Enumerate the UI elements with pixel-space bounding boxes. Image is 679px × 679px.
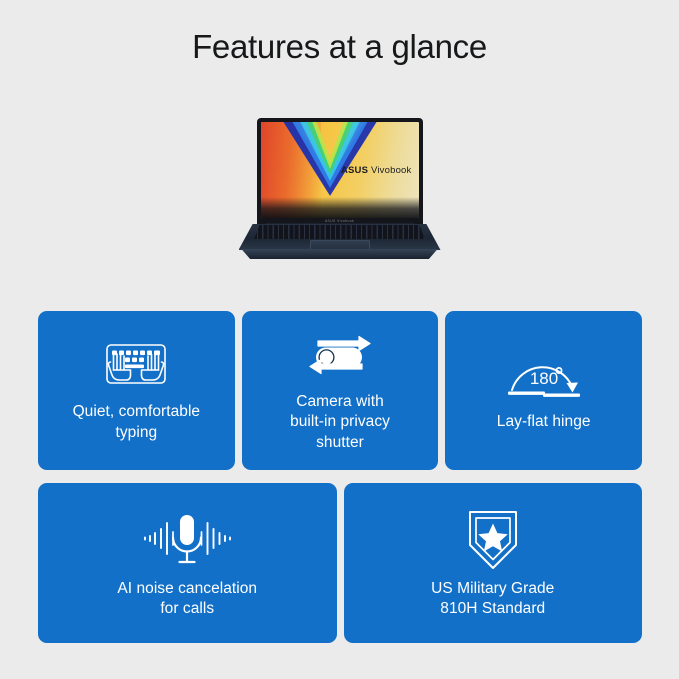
- screen-brand-text: ASUS Vivobook: [341, 165, 412, 176]
- feature-row-1: Quiet, comfortable typing Camera with bu…: [38, 311, 642, 470]
- laptop-keyboard: [253, 225, 427, 239]
- wallpaper-reflection: [261, 197, 419, 218]
- hero-product-image: ASUS Vivobook ASUS Vivobook: [0, 118, 679, 283]
- feature-card-us-military-grade[interactable]: US Military Grade 810H Standard: [344, 483, 643, 643]
- feature-label: Camera with built-in privacy shutter: [290, 392, 390, 454]
- laptop-lid: ASUS Vivobook: [257, 118, 423, 226]
- hinge-180-degree-icon: 180: [500, 346, 588, 408]
- feature-label: AI noise cancelation for calls: [117, 579, 257, 620]
- laptop-base-front: [231, 249, 449, 259]
- features-page: Features at a glance ASUS Vivobook: [0, 0, 679, 679]
- svg-text:180: 180: [529, 369, 557, 388]
- laptop-base: [231, 224, 449, 264]
- feature-label: Quiet, comfortable typing: [73, 402, 201, 443]
- feature-card-camera-privacy-shutter[interactable]: Camera with built-in privacy shutter: [242, 311, 439, 470]
- laptop-illustration: ASUS Vivobook ASUS Vivobook: [231, 118, 449, 268]
- feature-row-2: AI noise cancelation for calls US Milita…: [38, 483, 642, 643]
- keyboard-hands-icon: [99, 336, 173, 398]
- laptop-screen: ASUS Vivobook: [261, 122, 419, 218]
- feature-label: Lay-flat hinge: [497, 412, 591, 433]
- feature-label: US Military Grade 810H Standard: [431, 579, 554, 620]
- microphone-waveform-icon: [139, 505, 235, 575]
- feature-card-lay-flat-hinge[interactable]: 180 Lay-flat hinge: [445, 311, 642, 470]
- shield-star-icon: [462, 505, 524, 575]
- camera-privacy-shutter-icon: [302, 326, 378, 388]
- page-title: Features at a glance: [0, 28, 679, 66]
- feature-card-quiet-typing[interactable]: Quiet, comfortable typing: [38, 311, 235, 470]
- feature-card-ai-noise-cancelation[interactable]: AI noise cancelation for calls: [38, 483, 337, 643]
- feature-grid: Quiet, comfortable typing Camera with bu…: [38, 311, 642, 643]
